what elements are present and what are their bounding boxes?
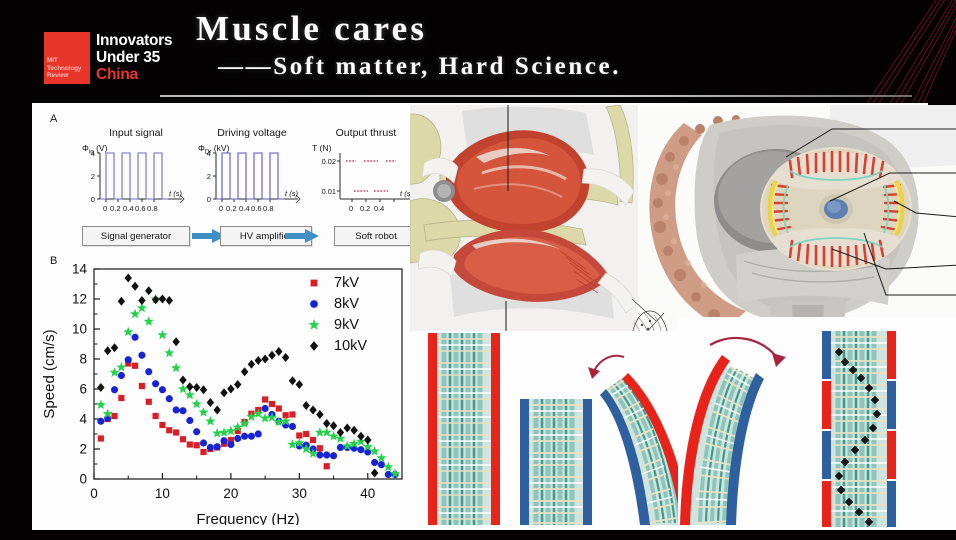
legend-item-8kV: 8kV (310, 296, 359, 312)
svg-text:10: 10 (155, 486, 170, 501)
svg-text:Speed (cm/s): Speed (cm/s) (41, 329, 58, 418)
svg-text:6: 6 (79, 382, 87, 397)
svg-text:0.6: 0.6 (135, 204, 146, 213)
figure-a-label: A (50, 113, 57, 125)
slide-canvas: MIT Technology Review Innovators Under 3… (0, 0, 956, 540)
svg-text:14: 14 (72, 262, 88, 277)
chart-driving-voltage: Driving voltage ΦDr (kV) 0 2 4 (194, 127, 310, 219)
logo-mark-line-2: Technology (47, 65, 87, 73)
logo-name-line-1: Innovators (96, 33, 172, 50)
svg-text:Frequency (Hz): Frequency (Hz) (196, 511, 299, 525)
svg-text:4: 4 (79, 412, 87, 427)
svg-text:0.2: 0.2 (226, 204, 237, 213)
svg-text:4: 4 (91, 149, 95, 158)
svg-text:0: 0 (207, 195, 211, 204)
svg-text:0.01: 0.01 (322, 187, 336, 196)
legend-item-7kV: 7kV (311, 275, 360, 291)
svg-text:0.6: 0.6 (251, 204, 262, 213)
svg-text:0.2: 0.2 (110, 204, 121, 213)
svg-text:2: 2 (79, 442, 87, 457)
logo-wordmark: Innovators Under 35 China (90, 32, 172, 84)
page-subtitle: ——Soft matter, Hard Science. (196, 50, 896, 84)
svg-text:8: 8 (79, 352, 87, 367)
content-panel: A Input signal Φin (V) 0 (32, 103, 928, 530)
svg-text:10kV: 10kV (334, 338, 367, 354)
series-7kV (98, 360, 330, 469)
svg-text:0.8: 0.8 (147, 204, 158, 213)
logo-mark: MIT Technology Review (44, 32, 90, 84)
svg-text:0.4: 0.4 (123, 204, 134, 213)
svg-text:0: 0 (90, 486, 98, 501)
svg-text:7kV: 7kV (334, 275, 359, 291)
series-8kV (97, 334, 398, 478)
svg-text:0.02: 0.02 (322, 157, 336, 166)
slide-header: MIT Technology Review Innovators Under 3… (0, 0, 956, 96)
svg-text:0: 0 (103, 204, 107, 213)
svg-text:0.2: 0.2 (360, 204, 370, 213)
logo-name-line-2: Under 35 (96, 50, 172, 67)
svg-text:20: 20 (223, 486, 238, 501)
svg-text:0.8: 0.8 (263, 204, 274, 213)
signal-flow-diagram: Signal generator HV amplifier Soft robot (82, 226, 418, 248)
svg-text:0.4: 0.4 (239, 204, 250, 213)
mit-technology-review-logo: MIT Technology Review Innovators Under 3… (44, 32, 180, 84)
logo-mark-line-3: Review (47, 72, 87, 80)
legend-item-9kV: 9kV (309, 317, 360, 333)
page-title: Muscle cares (196, 8, 896, 50)
svg-text:2: 2 (207, 172, 211, 181)
svg-text:t (s): t (s) (169, 189, 183, 198)
svg-text:4: 4 (207, 149, 211, 158)
flow-box-signal-generator: Signal generator (82, 226, 190, 246)
soft-actuator-schematic-bending (678, 317, 956, 530)
svg-text:9kV: 9kV (334, 317, 359, 333)
svg-text:8kV: 8kV (334, 296, 359, 312)
svg-text:0: 0 (349, 204, 353, 213)
legend-item-10kV: 10kV (310, 338, 367, 354)
svg-text:0: 0 (79, 472, 87, 487)
soft-actuator-schematic-straight (410, 331, 708, 530)
svg-text:40: 40 (360, 486, 375, 501)
header-divider (160, 95, 912, 97)
flow-arrow-icon-2 (285, 229, 319, 243)
figure-a: A Input signal Φin (V) 0 (42, 109, 420, 249)
svg-text:30: 30 (292, 486, 307, 501)
logo-mark-line-1: MIT (47, 57, 87, 65)
figure-b-speed-vs-frequency-chart: B 02468101214010203040Frequency (Hz)Spee… (36, 253, 420, 525)
svg-text:10: 10 (72, 322, 87, 337)
flow-box-soft-robot: Soft robot (334, 226, 418, 246)
logo-name-line-3: China (96, 66, 172, 83)
svg-text:0: 0 (91, 195, 95, 204)
chart-output-thrust: Output thrust T (N) (308, 127, 424, 219)
chart-input-signal: Input signal Φin (V) 0 2 4 (78, 127, 194, 219)
svg-text:12: 12 (72, 292, 87, 307)
svg-text:0.4: 0.4 (374, 204, 384, 213)
title-block: Muscle cares ——Soft matter, Hard Science… (196, 8, 896, 84)
scatter-plot-svg: 02468101214010203040Frequency (Hz)Speed … (36, 253, 420, 525)
svg-text:0: 0 (219, 204, 223, 213)
svg-text:t (s): t (s) (285, 189, 299, 198)
svg-text:2: 2 (91, 172, 95, 181)
